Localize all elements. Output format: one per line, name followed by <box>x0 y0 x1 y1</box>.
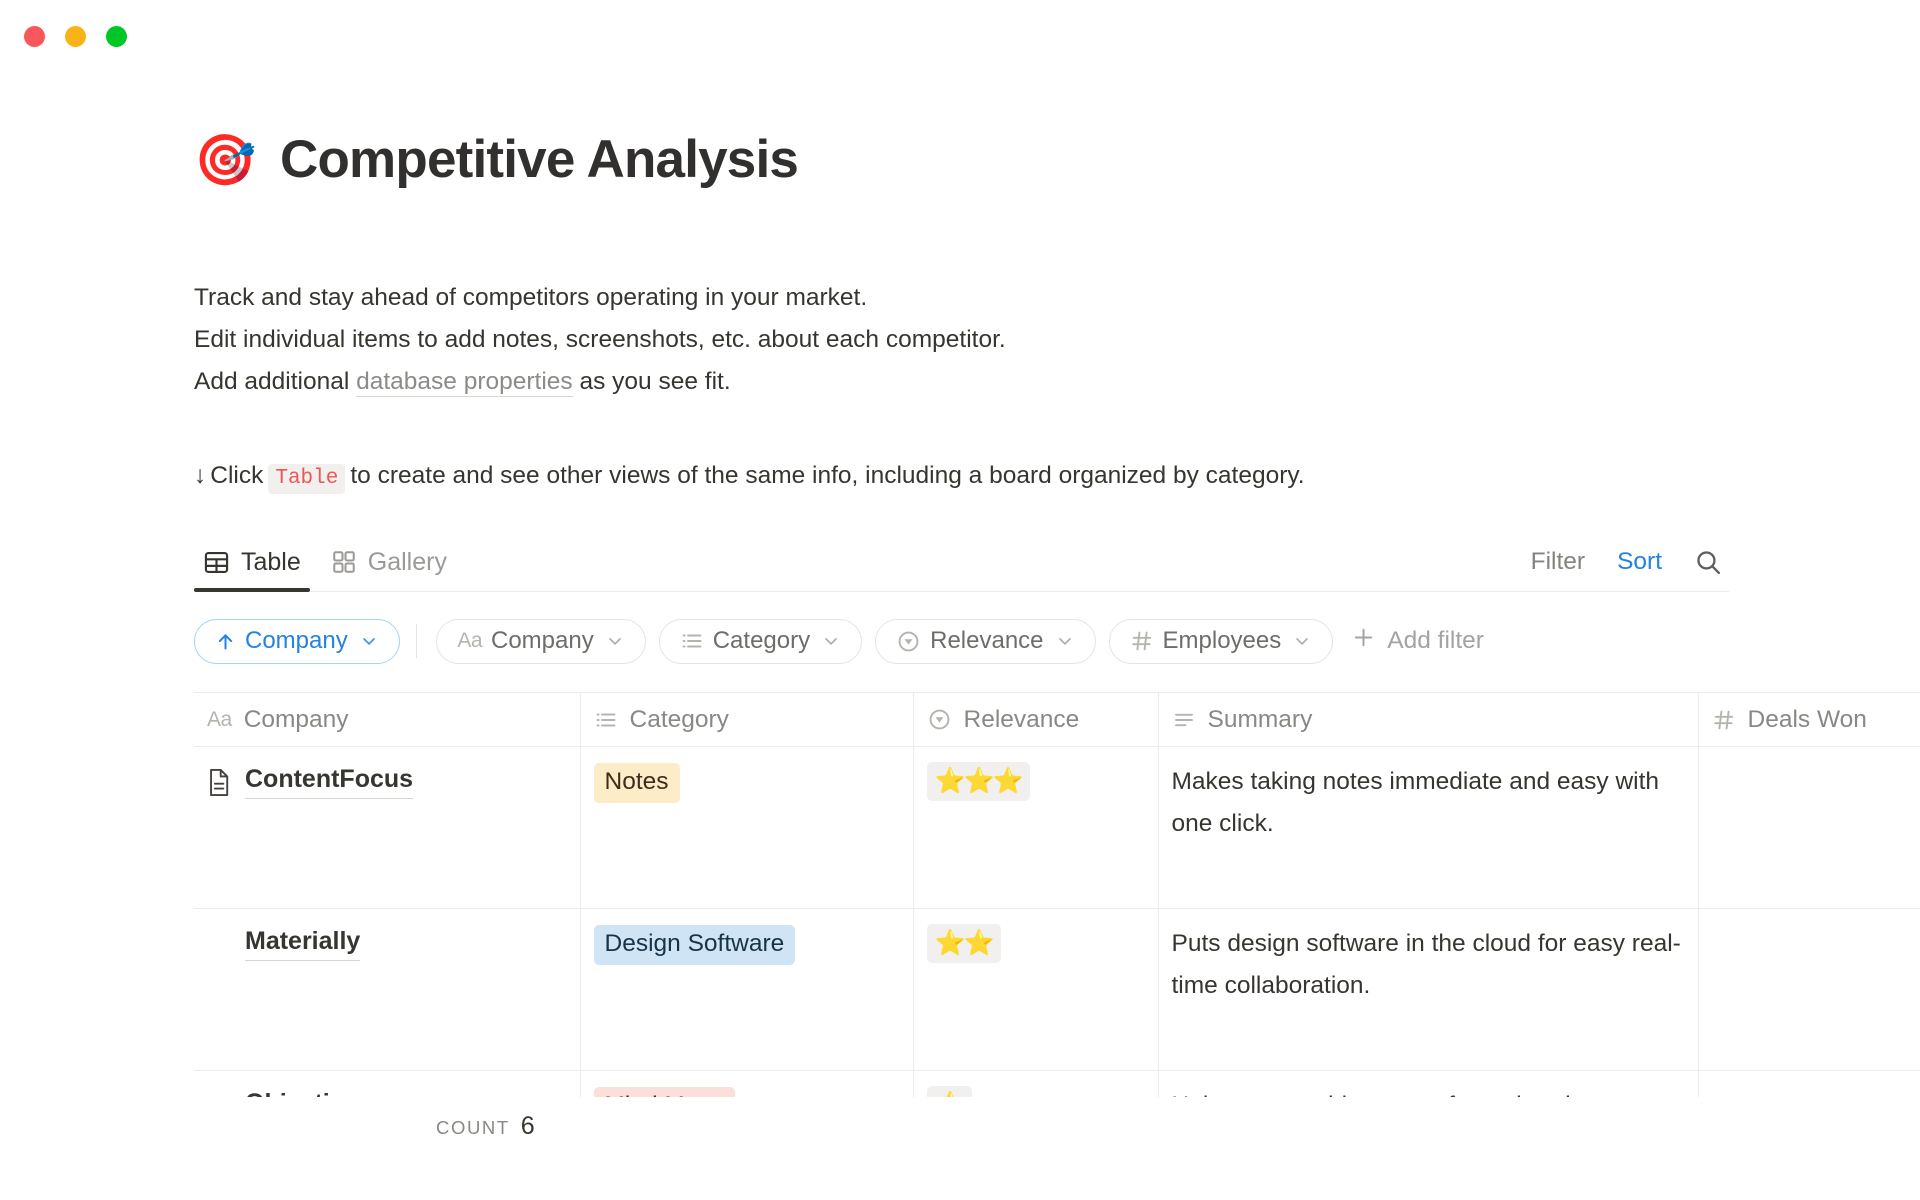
description-line-1: Track and stay ahead of competitors oper… <box>194 277 1920 319</box>
search-icon[interactable] <box>1694 548 1723 577</box>
cell-relevance[interactable]: ⭐⭐⭐ <box>913 747 1158 909</box>
close-window-button[interactable] <box>24 26 45 47</box>
column-header-summary-label: Summary <box>1208 706 1313 734</box>
column-header-category[interactable]: Category <box>580 693 913 747</box>
minimize-window-button[interactable] <box>65 26 86 47</box>
inline-code-table[interactable]: Table <box>268 464 345 494</box>
arrow-up-icon <box>215 631 236 652</box>
property-chip-category[interactable]: Category <box>659 619 862 664</box>
summary-text: Puts design software in the cloud for ea… <box>1159 909 1698 1007</box>
chip-divider <box>416 624 418 658</box>
chevron-down-icon <box>1292 631 1312 651</box>
company-name-link[interactable]: ContentFocus <box>245 763 413 799</box>
maximize-window-button[interactable] <box>106 26 127 47</box>
relevance-stars-tag: ⭐⭐ <box>927 924 1001 963</box>
description-line-3: Add additional database properties as yo… <box>194 361 1920 403</box>
callout-suffix: to create and see other views of the sam… <box>350 462 1304 489</box>
select-circle-icon <box>927 707 952 732</box>
sort-button[interactable]: Sort <box>1617 550 1662 575</box>
filter-chip-row: Company Aa Company Category <box>194 617 1920 665</box>
table-footer: Count 6 <box>194 1097 1920 1155</box>
table-row[interactable]: Materially Design Software ⭐⭐ Puts desig… <box>194 909 1920 1071</box>
cell-category[interactable]: Design Software <box>580 909 913 1071</box>
traffic-light-group <box>24 26 127 47</box>
cell-category[interactable]: Notes <box>580 747 913 909</box>
column-header-company[interactable]: Aa Company <box>194 693 580 747</box>
page-content: 🎯 Competitive Analysis Track and stay ah… <box>0 62 1920 1200</box>
target-emoji-icon: 🎯 <box>194 135 280 185</box>
add-filter-button[interactable]: Add filter <box>1346 625 1484 657</box>
property-chip-employees-label: Employees <box>1163 627 1282 655</box>
property-chip-employees[interactable]: Employees <box>1109 619 1334 664</box>
deals-won-value: 0 <box>1699 909 1920 961</box>
callout-prefix: Click <box>210 462 263 489</box>
select-circle-icon <box>896 629 921 654</box>
property-chip-relevance[interactable]: Relevance <box>875 619 1095 664</box>
multi-select-list-icon <box>594 708 618 732</box>
relevance-stars-tag: ⭐⭐⭐ <box>927 762 1030 801</box>
sort-chip-company[interactable]: Company <box>194 619 400 664</box>
view-tab-bar: Table Gallery Filter Sort <box>194 534 1729 592</box>
page-title: Competitive Analysis <box>280 130 798 191</box>
table-icon <box>203 549 230 576</box>
page-document-icon <box>207 768 233 797</box>
tab-table[interactable]: Table <box>194 534 310 590</box>
summary-text: Makes taking notes immediate and easy wi… <box>1159 747 1698 845</box>
tab-gallery[interactable]: Gallery <box>322 534 456 590</box>
tab-table-label: Table <box>241 548 301 577</box>
description-line-2: Edit individual items to add notes, scre… <box>194 319 1920 361</box>
tab-gallery-label: Gallery <box>368 548 447 577</box>
column-header-category-label: Category <box>630 706 729 734</box>
add-filter-label: Add filter <box>1387 627 1484 655</box>
chevron-down-icon <box>605 631 625 651</box>
cell-summary[interactable]: Puts design software in the cloud for ea… <box>1158 909 1698 1071</box>
view-bar-actions: Filter Sort <box>1531 534 1729 590</box>
column-header-relevance-label: Relevance <box>964 706 1080 734</box>
number-hash-icon <box>1712 708 1736 732</box>
description-link-suffix: as you see fit. <box>573 368 731 395</box>
cell-deals-won[interactable]: 1 <box>1698 747 1920 909</box>
page-header: 🎯 Competitive Analysis <box>194 130 1920 191</box>
column-header-summary[interactable]: Summary <box>1158 693 1698 747</box>
viewport-bottom-mask <box>0 1152 1920 1200</box>
column-header-company-label: Company <box>244 706 349 734</box>
deals-won-value <box>1699 1071 1920 1085</box>
callout-line: ↓ClickTableto create and see other views… <box>194 459 1920 496</box>
text-aa-icon: Aa <box>457 629 482 653</box>
database-properties-link[interactable]: database properties <box>356 368 573 397</box>
category-tag: Notes <box>594 763 680 803</box>
column-header-deals-won-label: Deals Won <box>1748 706 1867 734</box>
text-aa-icon: Aa <box>207 708 232 732</box>
column-header-deals-won[interactable]: Deals Won <box>1698 693 1920 747</box>
multi-select-list-icon <box>680 629 704 653</box>
table-header-row: Aa Company <box>194 693 1920 747</box>
category-tag: Design Software <box>594 925 796 965</box>
property-chip-relevance-label: Relevance <box>930 627 1043 655</box>
property-chip-category-label: Category <box>713 627 810 655</box>
count-label: Count <box>436 1117 510 1139</box>
description-link-prefix: Add additional <box>194 368 356 395</box>
cell-summary[interactable]: Makes taking notes immediate and easy wi… <box>1158 747 1698 909</box>
count-summary[interactable]: Count 6 <box>436 1112 535 1141</box>
cell-company[interactable]: ContentFocus <box>194 747 580 909</box>
count-value: 6 <box>521 1112 535 1141</box>
page-description: Track and stay ahead of competitors oper… <box>194 277 1920 403</box>
chevron-down-icon <box>359 631 379 651</box>
gallery-grid-icon <box>331 549 357 575</box>
chevron-down-icon <box>821 631 841 651</box>
property-chip-company[interactable]: Aa Company <box>436 619 645 664</box>
table-row[interactable]: ContentFocus Notes ⭐⭐⭐ Makes taking note… <box>194 747 1920 909</box>
view-tabs: Table Gallery <box>194 534 456 590</box>
deals-won-value: 1 <box>1699 747 1920 799</box>
window-titlebar <box>0 0 1920 62</box>
text-lines-icon <box>1172 708 1196 732</box>
chevron-down-icon <box>1055 631 1075 651</box>
down-arrow-icon: ↓ <box>194 462 206 489</box>
cell-relevance[interactable]: ⭐⭐ <box>913 909 1158 1071</box>
sort-chip-label: Company <box>245 627 348 655</box>
filter-button[interactable]: Filter <box>1531 550 1585 575</box>
cell-deals-won[interactable]: 0 <box>1698 909 1920 1071</box>
property-chip-company-label: Company <box>491 627 594 655</box>
cell-company[interactable]: Materially <box>194 909 580 1071</box>
column-header-relevance[interactable]: Relevance <box>913 693 1158 747</box>
number-hash-icon <box>1130 629 1154 653</box>
company-name-link[interactable]: Materially <box>245 925 360 961</box>
plus-icon <box>1351 625 1376 657</box>
